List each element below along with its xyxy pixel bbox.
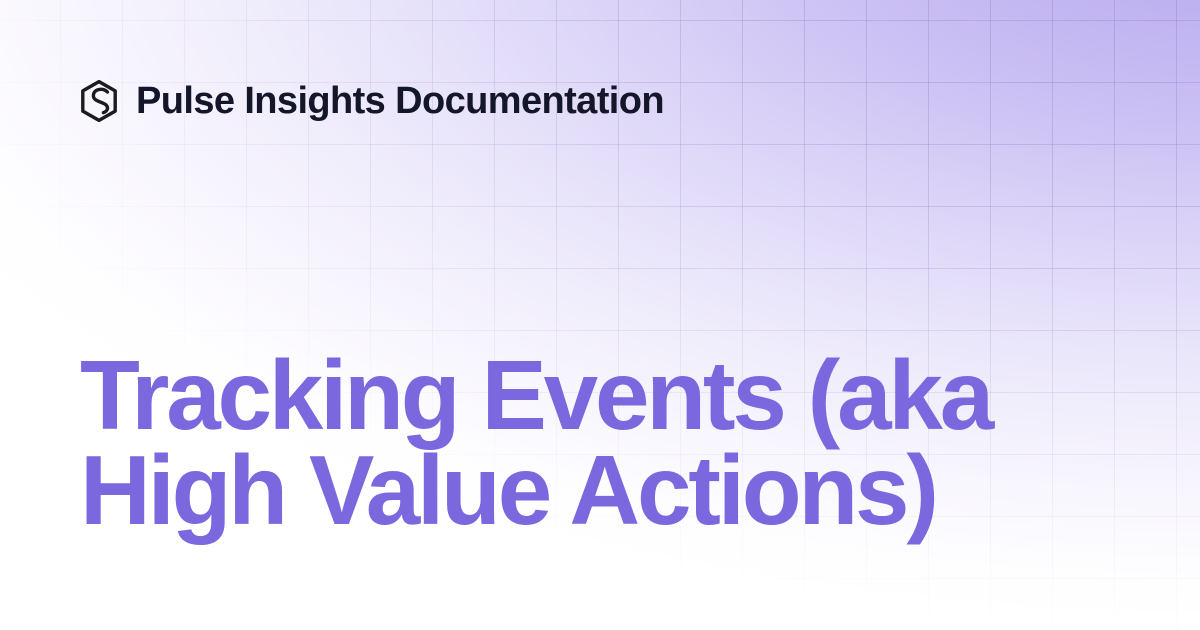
hexagon-s-logo-icon: [80, 80, 118, 122]
brand-row: Pulse Insights Documentation: [80, 78, 664, 124]
brand-title: Pulse Insights Documentation: [136, 82, 664, 120]
page-title: Tracking Events (aka High Value Actions): [80, 348, 1080, 538]
card-content: Pulse Insights Documentation Tracking Ev…: [0, 0, 1200, 630]
og-card: Pulse Insights Documentation Tracking Ev…: [0, 0, 1200, 630]
